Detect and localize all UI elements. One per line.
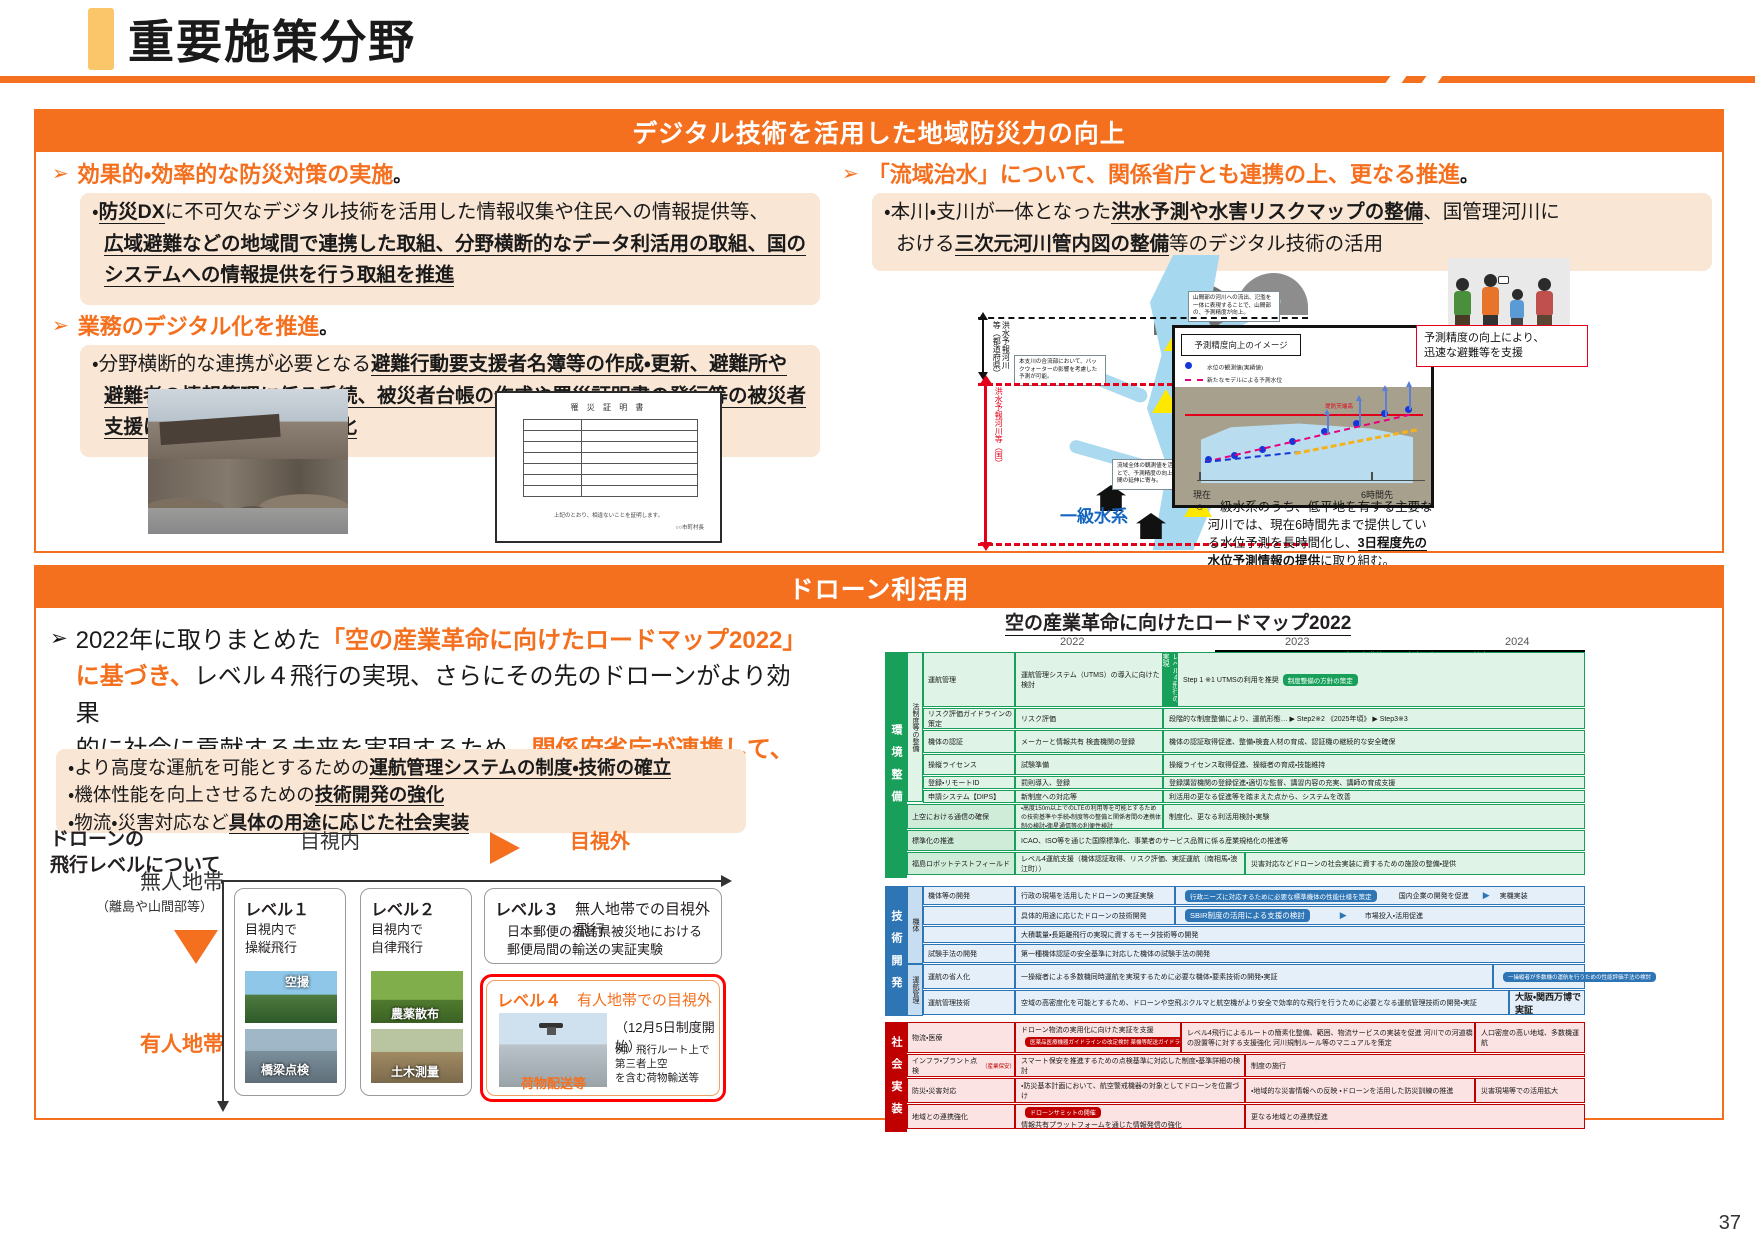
- drone-bullet-list: ・より高度な運航を可能とするための運航管理システムの制度・技術の確立 ・機体性能…: [68, 754, 748, 836]
- level-2-name: レベル２: [371, 896, 435, 920]
- cell-2023: 機体の認証取得促進、整備・検査人材の育成、認証機の継続的な安全確保: [1163, 730, 1585, 753]
- person-body: [1454, 291, 1471, 315]
- label-class-a-water-system: 一級水系: [1060, 502, 1128, 527]
- chevron-right-icon: ➢: [842, 161, 859, 188]
- megaphone-icon: [1498, 276, 1509, 284]
- roadmap-subgroup-label-legal: 法制度等の整備: [907, 652, 923, 802]
- gain-arrow: [1359, 400, 1361, 426]
- arrow-icon: ▶: [1340, 910, 1347, 921]
- header-beyond-visual-line-of-sight: 目視外: [570, 825, 630, 854]
- gain-arrow: [1327, 414, 1329, 434]
- roadmap-table: 2022 2023 2024 レベル4飛行を段階的に人口密度の高いエリアへ拡大 …: [885, 638, 1585, 1104]
- person-figure-2-megaphone: [1482, 274, 1499, 326]
- level-4-name: レベル４: [497, 987, 561, 1011]
- table-row: インフラ・プラント点検 （産業保安） スマート保安を推進するための点検基準に対応…: [907, 1054, 1585, 1078]
- cell-2023: レベル4飛行によるルートの簡素化整備、範囲、物流サービスの実装を促進 河川での河…: [1181, 1022, 1475, 1053]
- person-head: [1538, 278, 1551, 291]
- level-1-description: 目視内で 操縦飛行: [245, 921, 297, 956]
- title-accent-bar: [88, 8, 114, 70]
- table-row: 大積載量・長距離飛行の実現に資するモータ技術等の開発: [923, 926, 1585, 944]
- bullet-effective-measures: ➢ 効果的・効率的な防災対策の実施。: [52, 161, 592, 190]
- chevron-right-icon: ➢: [52, 161, 69, 188]
- roadmap-group-label-environment: 環 境 整 備: [885, 652, 907, 878]
- level-card-3: レベル３ 無人地帯での目視外飛行 日本郵便の福島県被災地における 郵便局間の輸送…: [484, 888, 722, 964]
- table-row: 物流・医療 ドローン物流の実用化に向けた実証を支援 医薬品医療機器ガイドラインの…: [907, 1022, 1585, 1054]
- cell-stage1: 試験準備: [1015, 754, 1163, 775]
- table-row: 機体等の開発 行政の現場を活用したドローンの実証実験 行政ニーズに対応するために…: [923, 886, 1585, 906]
- cell-stage1: メーカーと情報共有 検査機関の登録: [1015, 730, 1163, 753]
- person-head: [1456, 278, 1469, 291]
- chart-title: 予測精度向上のイメージ: [1181, 334, 1301, 356]
- table-row: 運航の省人化 一操縦者による多数機同時運航を実現するために必要な機体・要素技術の…: [923, 964, 1585, 990]
- row-label-application-system: 申請システム【DIPS】: [923, 790, 1015, 803]
- legend-swatch-dash-pink: [1185, 375, 1203, 386]
- row-label-regional-cooperation: 地域との連携強化: [907, 1104, 1015, 1129]
- roadmap-year-2022: 2022: [1060, 636, 1084, 648]
- cell-2022: ドローン物流の実用化に向けた実証を支援: [1021, 1025, 1180, 1035]
- row-label-standardization: 標準化の推進: [907, 830, 1015, 851]
- cell-risk-stage: リスク評価: [1015, 708, 1163, 729]
- bullet-digitalize-operations: ➢ 業務のデジタル化を推進。: [52, 313, 592, 342]
- table-row: 地域との連携強化 ドローンサミットの開催 情報共有プラットフォームを通じた情報発…: [907, 1104, 1585, 1130]
- table-row: 機体の認証 メーカーと情報共有 検査機関の登録 機体の認証取得促進、整備・検査人…: [923, 730, 1585, 754]
- level-4-highlight-frame: レベル４ 有人地帯での目視外飛行 荷物配送等 （12月5日制度開始） 例）飛行ル…: [480, 974, 726, 1102]
- cell-2022: 情報共有プラットフォームを通じた情報発信の強化: [1021, 1120, 1244, 1130]
- roadmap-section-social-implementation: 社 会 実 装 物流・医療 ドローン物流の実用化に向けた実証を支援 医薬品医療機…: [885, 1022, 1585, 1132]
- arrow-icon: ▶: [1483, 890, 1490, 901]
- row-label-aerial-communication: 上空における通信の確保: [907, 804, 1015, 829]
- row-label-risk-assessment: リスク評価ガイドラインの策定: [923, 708, 1015, 729]
- roadmap-section-environment: 環 境 整 備 法制度等の整備 運航管理 運航管理システム（UTMS）の導入に向…: [885, 652, 1585, 878]
- row-label-ops-management-tech: 運航管理技術: [923, 990, 1015, 1015]
- label-osaka-kansai-expo: 大阪・関西万博で実証: [1515, 990, 1584, 1016]
- roadmap-year-2023: 2023: [1285, 636, 1309, 648]
- level-3-description: 日本郵便の福島県被災地における 郵便局間の輸送の実証実験: [507, 923, 702, 958]
- section-band-disaster: デジタル技術を活用した地域防災力の向上: [36, 111, 1722, 152]
- drone-body-shape: [547, 1027, 556, 1035]
- legend-item-observed: 水位の観測値(実績値): [1185, 362, 1282, 375]
- table-row: 具体的用途に応じたドローンの技術開発 SBIR制度の活用による支援の検討 ▶ 市…: [923, 906, 1585, 926]
- table-row: 登録・リモートID 罰則導入、登録 登録講習機関の登録促進・適切な監督、講習内容…: [923, 776, 1585, 790]
- list-item: ・物流・災害対応など具体の用途に応じた社会実装: [68, 809, 748, 836]
- certificate-issuer: ○○市町村長: [675, 523, 704, 531]
- road-shape: [148, 508, 348, 534]
- chart-prediction-accuracy: 予測精度向上のイメージ 水位の観測値(実績値) 新たなモデルによる予測水位 既存…: [1172, 325, 1434, 508]
- list-item: ・機体性能を向上させるための技術開発の強化: [68, 781, 748, 808]
- cell-2023: 利活用の更なる促進等を踏まえた点から、システムを改善: [1163, 790, 1585, 803]
- cell-2023: 更なる地域との連携促進: [1245, 1104, 1585, 1129]
- person-body: [1510, 300, 1524, 318]
- document-disaster-certificate: 罹 災 証 明 書 上記のとおり、相違ないことを証明します。 ○○市町村長: [495, 391, 722, 543]
- arrow-prefecture-range: [982, 319, 984, 373]
- person-figure-3-child: [1510, 289, 1524, 326]
- x-tick-6h: [1371, 472, 1373, 481]
- title-divider: [0, 76, 1755, 83]
- row-label-pilot-license: 操縦ライセンス: [923, 754, 1015, 775]
- row-label-flight-management: 運航管理: [923, 652, 1015, 707]
- person-body: [1536, 291, 1553, 315]
- level-1-thumb2-caption: 橋梁点検: [261, 1061, 309, 1078]
- gain-arrow: [1385, 390, 1387, 416]
- cell-2022: ・高度150m以上でのLTEの利用等を可能とするための技術基準や手続・制度等の整…: [1015, 804, 1163, 829]
- roadmap-title: 空の産業革命に向けたロードマップ2022: [1005, 608, 1351, 636]
- zone-label-manned-area: 有人地帯: [140, 1028, 224, 1058]
- callout-faster-evacuation: 予測精度の向上により、 迅速な避難等を支援: [1416, 325, 1588, 367]
- table-row: 福島ロボットテストフィールド レベル4運航支援（機体認証取得、リスク評価、実証運…: [907, 852, 1585, 876]
- table-row: 標準化の推進 ICAO、ISO等を通じた国際標準化、事業者のサービス品質に係る産…: [907, 830, 1585, 852]
- chart-x-axis: [1197, 480, 1425, 482]
- row-label-fukushima-test-field: 福島ロボットテストフィールド: [907, 852, 1015, 875]
- row-label-registration-remoteid: 登録・リモートID: [923, 776, 1015, 789]
- roadmap-group-label-technology: 技 術 開 発: [885, 886, 907, 1016]
- certificate-note: 上記のとおり、相違ないことを証明します。: [497, 511, 720, 519]
- person-figure-1: [1454, 278, 1471, 326]
- cell-2022: 具体的用途に応じたドローンの技術開発: [1015, 906, 1175, 925]
- row-label-disaster-response: 防災・災害対応: [907, 1078, 1015, 1103]
- level-diagram-caption-line1: ドローンの: [50, 824, 144, 851]
- level-1-name: レベル１: [245, 896, 309, 920]
- gain-arrow: [1409, 386, 1411, 410]
- dashed-line-prefecture-boundary: [978, 317, 1308, 319]
- list-item: ・より高度な運航を可能とするための運航管理システムの制度・技術の確立: [68, 754, 748, 781]
- chevron-right-icon: ➢: [52, 313, 69, 340]
- cell-2023: ・地域的な災害情報への反映 ・ドローンを活用した防災訓練の推進: [1245, 1078, 1475, 1103]
- cell-2023: Step 1 ※1 UTMSの利用を推奨 制度整備の方針の策定: [1177, 652, 1585, 707]
- cell-2023: 行政ニーズに対応するために必要な標準機体の性能仕様を策定 国内企業の開発を促進 …: [1175, 886, 1585, 905]
- cell-2023: 操縦ライセンス取得促進、操縦者の育成・技能維持: [1163, 754, 1585, 775]
- photo-damaged-house: [148, 389, 348, 534]
- row-label-aircraft-certification: 機体の認証: [923, 730, 1015, 753]
- bullet-basin-flood-control: ➢ 「流域治水」について、関係省庁とも連携の上、更なる推進。: [842, 161, 1712, 190]
- pill-multi-aircraft-eval: 一操縦者が多数機の運航を行うための性能評価手法の検討: [1503, 972, 1656, 982]
- roadmap-subgroup-label-airframe: 機体: [907, 886, 923, 964]
- level-2-thumb1-caption: 農薬散布: [391, 1005, 439, 1022]
- body-text-disaster-dx: ・防災DXに不可欠なデジタル技術を活用した情報収集や住民への情報提供等、 広域避…: [92, 197, 820, 292]
- cell-2022: ICAO、ISO等を通じた国際標準化、事業者のサービス品質に係る産業規格化の推進…: [1015, 830, 1585, 851]
- level-card-4: レベル４ 有人地帯での目視外飛行 荷物配送等 （12月5日制度開始） 例）飛行ル…: [486, 980, 720, 1096]
- pill-policy-formulation: 制度整備の方針の策定: [1283, 674, 1358, 686]
- illustration-evacuating-people: [1448, 258, 1570, 330]
- level-4-thumb-caption: 荷物配送等: [521, 1073, 586, 1092]
- cell-2023: 制度の施行: [1245, 1054, 1585, 1077]
- cell-2024: 災害現場等での活用拡大: [1475, 1078, 1585, 1103]
- zone-transition-arrow-down: [174, 930, 218, 964]
- callout-confluence-backwater: 本支川の合流部において、バックウォーターの影響を考慮した予測が可能。: [1014, 355, 1106, 386]
- table-row: 申請システム【DIPS】 新制度への対応等 利活用の更なる促進等を踏まえた点から…: [923, 790, 1585, 804]
- legend-item-new-model: 新たなモデルによる予測水位: [1185, 375, 1282, 387]
- person-head: [1484, 274, 1497, 287]
- cell-2022: 新制度への対応等: [1015, 790, 1163, 803]
- level-card-1: レベル１ 目視内で 操縦飛行 空撮 橋梁点検: [234, 888, 346, 1096]
- house-eave-shape: [159, 414, 280, 446]
- cell-2022: レベル4運航支援（機体認証取得、リスク評価、実証運航（南相馬・浪江町））: [1015, 852, 1245, 875]
- cell-2023: 災害対応などドローンの社会実装に資するための施設の整備・提供: [1245, 852, 1585, 875]
- cell-2023: 制度化、更なる利活用検討・実験: [1163, 804, 1585, 829]
- table-row: 運航管理技術 空域の高密度化を可能とするため、ドローンや空飛ぶクルマと航空機がよ…: [923, 990, 1585, 1016]
- cell-2023: 登録講習機関の登録促進・適切な監督、講習内容の充実、講師の育成支援: [1163, 776, 1585, 789]
- body-text-flood-prediction: ・本川・支川が一体となった洪水予測や水害リスクマップの整備、国管理河川に おける…: [884, 197, 1712, 260]
- zone-sublabel-islands-mountains: （離島や山間部等）: [96, 896, 213, 915]
- x-tick-now: [1199, 472, 1201, 481]
- cell-2022: 大積載量・長距離飛行の実現に資するモータ技術等の開発: [1015, 926, 1585, 943]
- header-within-visual-line-of-sight: 目視内: [300, 825, 360, 854]
- cell-2023: 段階的な制度整備により、運航形態… ▶ Step2※2 《2025年頃》 ▶ S…: [1163, 708, 1585, 729]
- row-label-airframe-development: 機体等の開発: [923, 886, 1015, 905]
- slide-title-bar: 重要施策分野: [0, 0, 1755, 80]
- level-cards-container: レベル１ 目視内で 操縦飛行 空撮 橋梁点検 レベル２ 目視内で 自律飛行 農薬…: [222, 880, 722, 1108]
- circle-bullet-icon: ○: [1196, 498, 1204, 571]
- person-head: [1512, 289, 1523, 300]
- roadmap-subgroup-label-ops: 運航管理: [907, 964, 923, 1016]
- table-row: リスク評価ガイドラインの策定 リスク評価 段階的な制度整備により、運航形態… ▶…: [923, 708, 1585, 730]
- page-title: 重要施策分野: [128, 6, 416, 72]
- certificate-title: 罹 災 証 明 書: [497, 402, 720, 413]
- row-label-infra-plant-inspection: インフラ・プラント点検: [912, 1056, 982, 1076]
- roadmap-group-label-social: 社 会 実 装: [885, 1022, 907, 1132]
- row-label-test-method: 試験手法の開発: [923, 944, 1015, 963]
- table-row: 操縦ライセンス 試験準備 操縦ライセンス取得促進、操縦者の育成・技能維持: [923, 754, 1585, 776]
- level-1-thumb1-caption: 空撮: [285, 973, 309, 990]
- cell-2024: 人口密度の高い地域、多数機運航: [1475, 1022, 1585, 1053]
- level-3-name: レベル３: [495, 896, 559, 920]
- pill-drone-summit: ドローンサミットの開催: [1025, 1107, 1101, 1118]
- page-number: 37: [1719, 1212, 1741, 1235]
- legend-swatch-dot: [1185, 362, 1203, 374]
- cell-2022: ・防災基本計画において、航空警戒機器の対象としてドローンを位置づけ: [1015, 1078, 1245, 1103]
- cell-2022: 行政の現場を活用したドローンの実証実験: [1015, 886, 1175, 905]
- level-card-2: レベル２ 目視内で 自律飛行 農薬散布 土木測量: [360, 888, 472, 1096]
- vlabel-prefecture-river: 洪水予報河川等（都道府県）: [992, 321, 1010, 373]
- pill-standard-spec: 行政ニーズに対応するために必要な標準機体の性能仕様を策定: [1185, 890, 1377, 902]
- arrow-national-range: [984, 383, 987, 543]
- table-row: 運航管理 運航管理システム（UTMS）の導入に向けた検討 レベル４飛行の実現 S…: [923, 652, 1585, 708]
- section-band-drone: ドローン利活用: [36, 567, 1722, 608]
- row-label-labor-saving: 運航の省人化: [923, 964, 1015, 989]
- cell-stage1: 罰則導入、登録: [1015, 776, 1163, 789]
- roadmap-year-2024: 2024: [1505, 636, 1529, 648]
- zone-label-unmanned-area: 無人地帯: [140, 866, 224, 896]
- cell-2022: スマート保安を推進するための点検基準に対応した制度・基準詳細の検討: [1015, 1054, 1245, 1077]
- roadmap-section-technology: 技 術 開 発 機体 機体等の開発 行政の現場を活用したドローンの実証実験 行政…: [885, 886, 1585, 1016]
- certificate-table: [523, 419, 698, 497]
- progression-arrow-right: [490, 832, 520, 864]
- pill-sbir-support: SBIR制度の活用による支援の検討: [1185, 909, 1310, 922]
- level-2-description: 目視内で 自律飛行: [371, 921, 423, 956]
- table-row: 試験手法の開発 第一種機体認証の安全基準に対応した機体の試験手法の開発: [923, 944, 1585, 964]
- table-row: 上空における通信の確保 ・高度150m以上でのLTEの利用等を可能とするための技…: [907, 804, 1585, 830]
- cell-2022: 第一種機体認証の安全基準に対応した機体の試験手法の開発: [1015, 944, 1585, 963]
- person-body: [1482, 287, 1499, 315]
- level-2-thumb2-caption: 土木測量: [391, 1063, 439, 1080]
- cell-2023: SBIR制度の活用による支援の検討 ▶ 市場投入・活用促進: [1175, 906, 1585, 925]
- level-4-example: 例）飛行ルート上で第三者上空 を含む荷物輸送等: [615, 1043, 719, 1086]
- table-row: 防災・災害対応 ・防災基本計画において、航空警戒機器の対象としてドローンを位置づ…: [907, 1078, 1585, 1104]
- row-label-logistics-medical: 物流・医療: [907, 1022, 1015, 1053]
- vlabel-national-river: 洪水予報河川等（国）: [994, 387, 1003, 537]
- roadmap-level4-side-label: レベル４飛行の実現: [1163, 652, 1177, 707]
- row-tag-industrial-safety: （産業保安）: [982, 1062, 1014, 1070]
- note-long-range-water-level: ○ 一級水系のうち、低平地を有する主要な 河川では、現在6時間先まで提供してい …: [1196, 498, 1576, 571]
- person-figure-4: [1536, 278, 1553, 326]
- cell-2022: 運航管理システム（UTMS）の導入に向けた検討: [1015, 652, 1163, 707]
